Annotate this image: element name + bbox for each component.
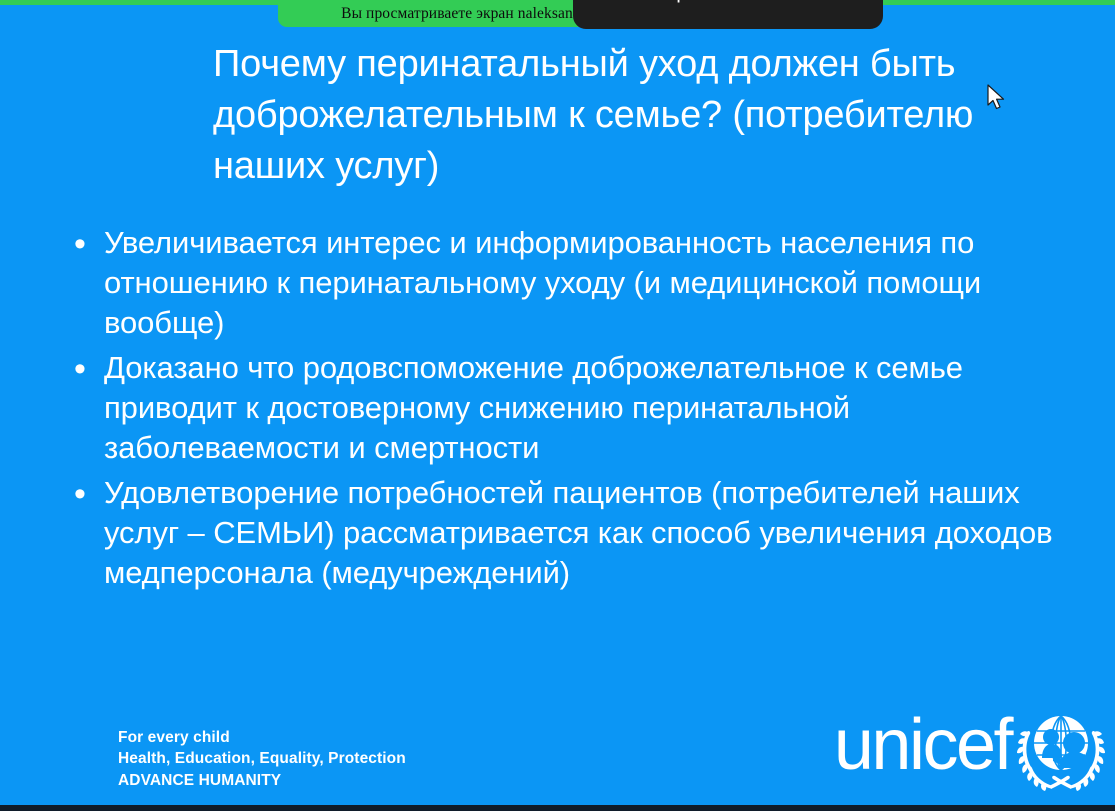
unicef-wordmark: unicef: [834, 709, 1011, 781]
list-item: • Увеличивается интерес и информированно…: [56, 223, 1076, 343]
active-speaker-overlay[interactable]: Говорит: naleksandrovich: [573, 0, 883, 29]
slide-footer: For every child Health, Education, Equal…: [0, 695, 1115, 800]
screen-share-viewport: Почему перинатальный уход должен быть до…: [0, 0, 1115, 811]
bullet-dot-icon: •: [56, 223, 104, 264]
tagline-line-2: Health, Education, Equality, Protection: [118, 748, 406, 770]
tagline-line-3: ADVANCE HUMANITY: [118, 770, 406, 792]
unicef-globe-mother-and-child-emblem: [1015, 706, 1107, 792]
list-item: • Доказано что родовспоможение доброжела…: [56, 348, 1076, 468]
unicef-tagline: For every child Health, Education, Equal…: [118, 727, 406, 792]
list-item: • Удовлетворение потребностей пациентов …: [56, 473, 1076, 593]
tagline-line-1: For every child: [118, 727, 406, 749]
bullet-dot-icon: •: [56, 348, 104, 389]
bullet-text: Доказано что родовспоможение доброжелате…: [104, 348, 1076, 468]
active-speaker-label: Говорит: naleksandrovich: [646, 0, 809, 3]
slide-bullet-list: • Увеличивается интерес и информированно…: [56, 223, 1076, 598]
bullet-text: Увеличивается интерес и информированност…: [104, 223, 1076, 343]
bullet-dot-icon: •: [56, 473, 104, 514]
window-bottom-strip: [0, 805, 1115, 811]
unicef-logo: unicef: [834, 706, 1107, 792]
slide-title: Почему перинатальный уход должен быть до…: [213, 39, 1013, 192]
bullet-text: Удовлетворение потребностей пациентов (п…: [104, 473, 1076, 593]
presentation-slide: Почему перинатальный уход должен быть до…: [0, 5, 1115, 806]
